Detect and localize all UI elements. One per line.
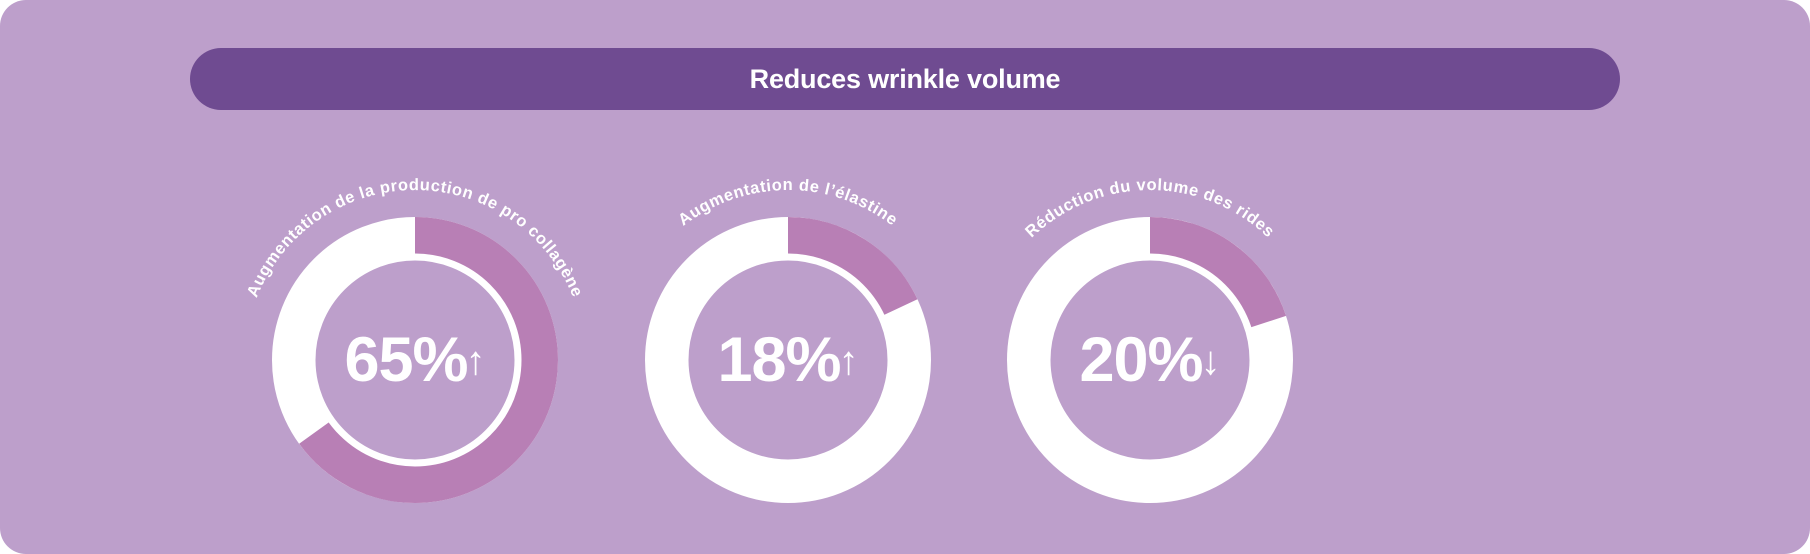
inner-divider-ring (312, 257, 518, 463)
inner-divider-ring (685, 257, 891, 463)
donut-chart-group: Augmentation de la production de pro col… (0, 140, 1810, 540)
inner-divider-ring (1047, 257, 1253, 463)
donut-chart-wrinkle-volume[interactable]: Réduction du volume des rides 20% ↓ (950, 160, 1350, 554)
banner-title: Reduces wrinkle volume (750, 64, 1061, 95)
donut-chart-pro-collagen[interactable]: Augmentation de la production de pro col… (215, 160, 615, 554)
banner: Reduces wrinkle volume (190, 48, 1620, 110)
donut-chart-elastin[interactable]: Augmentation de l’élastine 18% ↑ (588, 160, 988, 554)
infographic-panel: Reduces wrinkle volume Augmentation de l… (0, 0, 1810, 554)
